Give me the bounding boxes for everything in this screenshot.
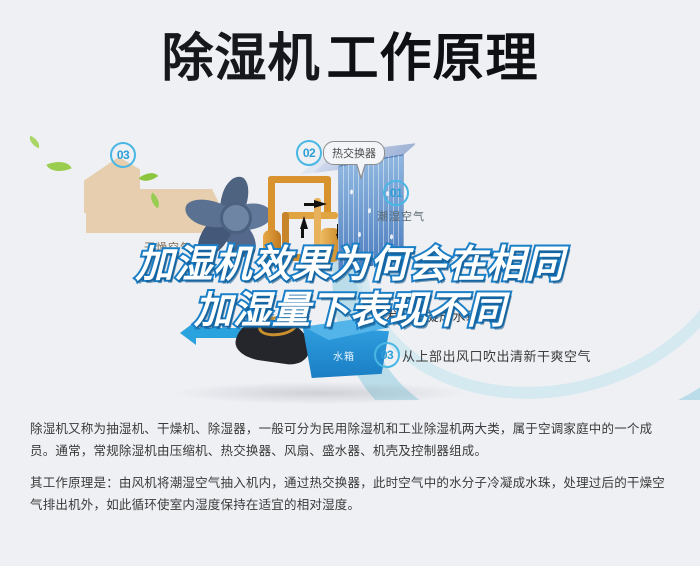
heat-exchanger-callout: 热交换器 bbox=[323, 141, 385, 165]
pipe-segment bbox=[282, 212, 338, 219]
body-paragraph-2: 其工作原理是：由风机将潮湿空气抽入机内，通过热交换器，此时空气中的水分子冷凝成水… bbox=[30, 472, 675, 516]
poster-root: 除湿机工作原理 干燥空气 03 bbox=[0, 0, 700, 566]
step-badge-03-bottom: 03 bbox=[374, 342, 400, 368]
pipe-segment bbox=[268, 176, 330, 183]
step-badge-01: 01 bbox=[383, 180, 409, 206]
note-step-03: 从上部出风口吹出清新干爽空气 bbox=[402, 346, 591, 365]
pipe-segment bbox=[324, 176, 331, 216]
step-badge-03-top: 03 bbox=[110, 142, 136, 168]
step-badge-02: 02 bbox=[296, 140, 322, 166]
water-tank-label: 水箱 bbox=[333, 348, 355, 363]
pipe-segment bbox=[282, 212, 289, 260]
dehumidifier-diagram: 干燥空气 03 bbox=[0, 120, 700, 400]
leaf-icon bbox=[27, 136, 42, 149]
receiver-cylinder bbox=[263, 230, 281, 266]
flow-arrow-right-stem bbox=[304, 203, 315, 206]
body-copy: 除湿机又称为抽湿机、干燥机、除湿器，一般可分为民用除湿机和工业除湿机两大类，属于… bbox=[30, 418, 675, 516]
page-title-part1: 除湿机 bbox=[161, 28, 320, 90]
dry-air-arrow-head bbox=[84, 157, 140, 213]
page-title-part2: 工作原理 bbox=[327, 28, 539, 90]
flow-arrow-right-icon bbox=[314, 200, 327, 208]
flow-arrow-up-stem bbox=[301, 228, 304, 238]
page-title: 除湿机工作原理 bbox=[0, 28, 700, 90]
body-paragraph-1: 除湿机又称为抽湿机、干燥机、除湿器，一般可分为民用除湿机和工业除湿机两大类，属于… bbox=[30, 418, 675, 462]
illustration-ground-shadow bbox=[175, 382, 465, 404]
note-step-02: 发器冷凝成水珠 bbox=[385, 306, 480, 325]
moist-air-label: 潮湿空气 bbox=[377, 208, 425, 224]
pipe-segment bbox=[268, 176, 275, 236]
fan-hub bbox=[220, 202, 252, 234]
